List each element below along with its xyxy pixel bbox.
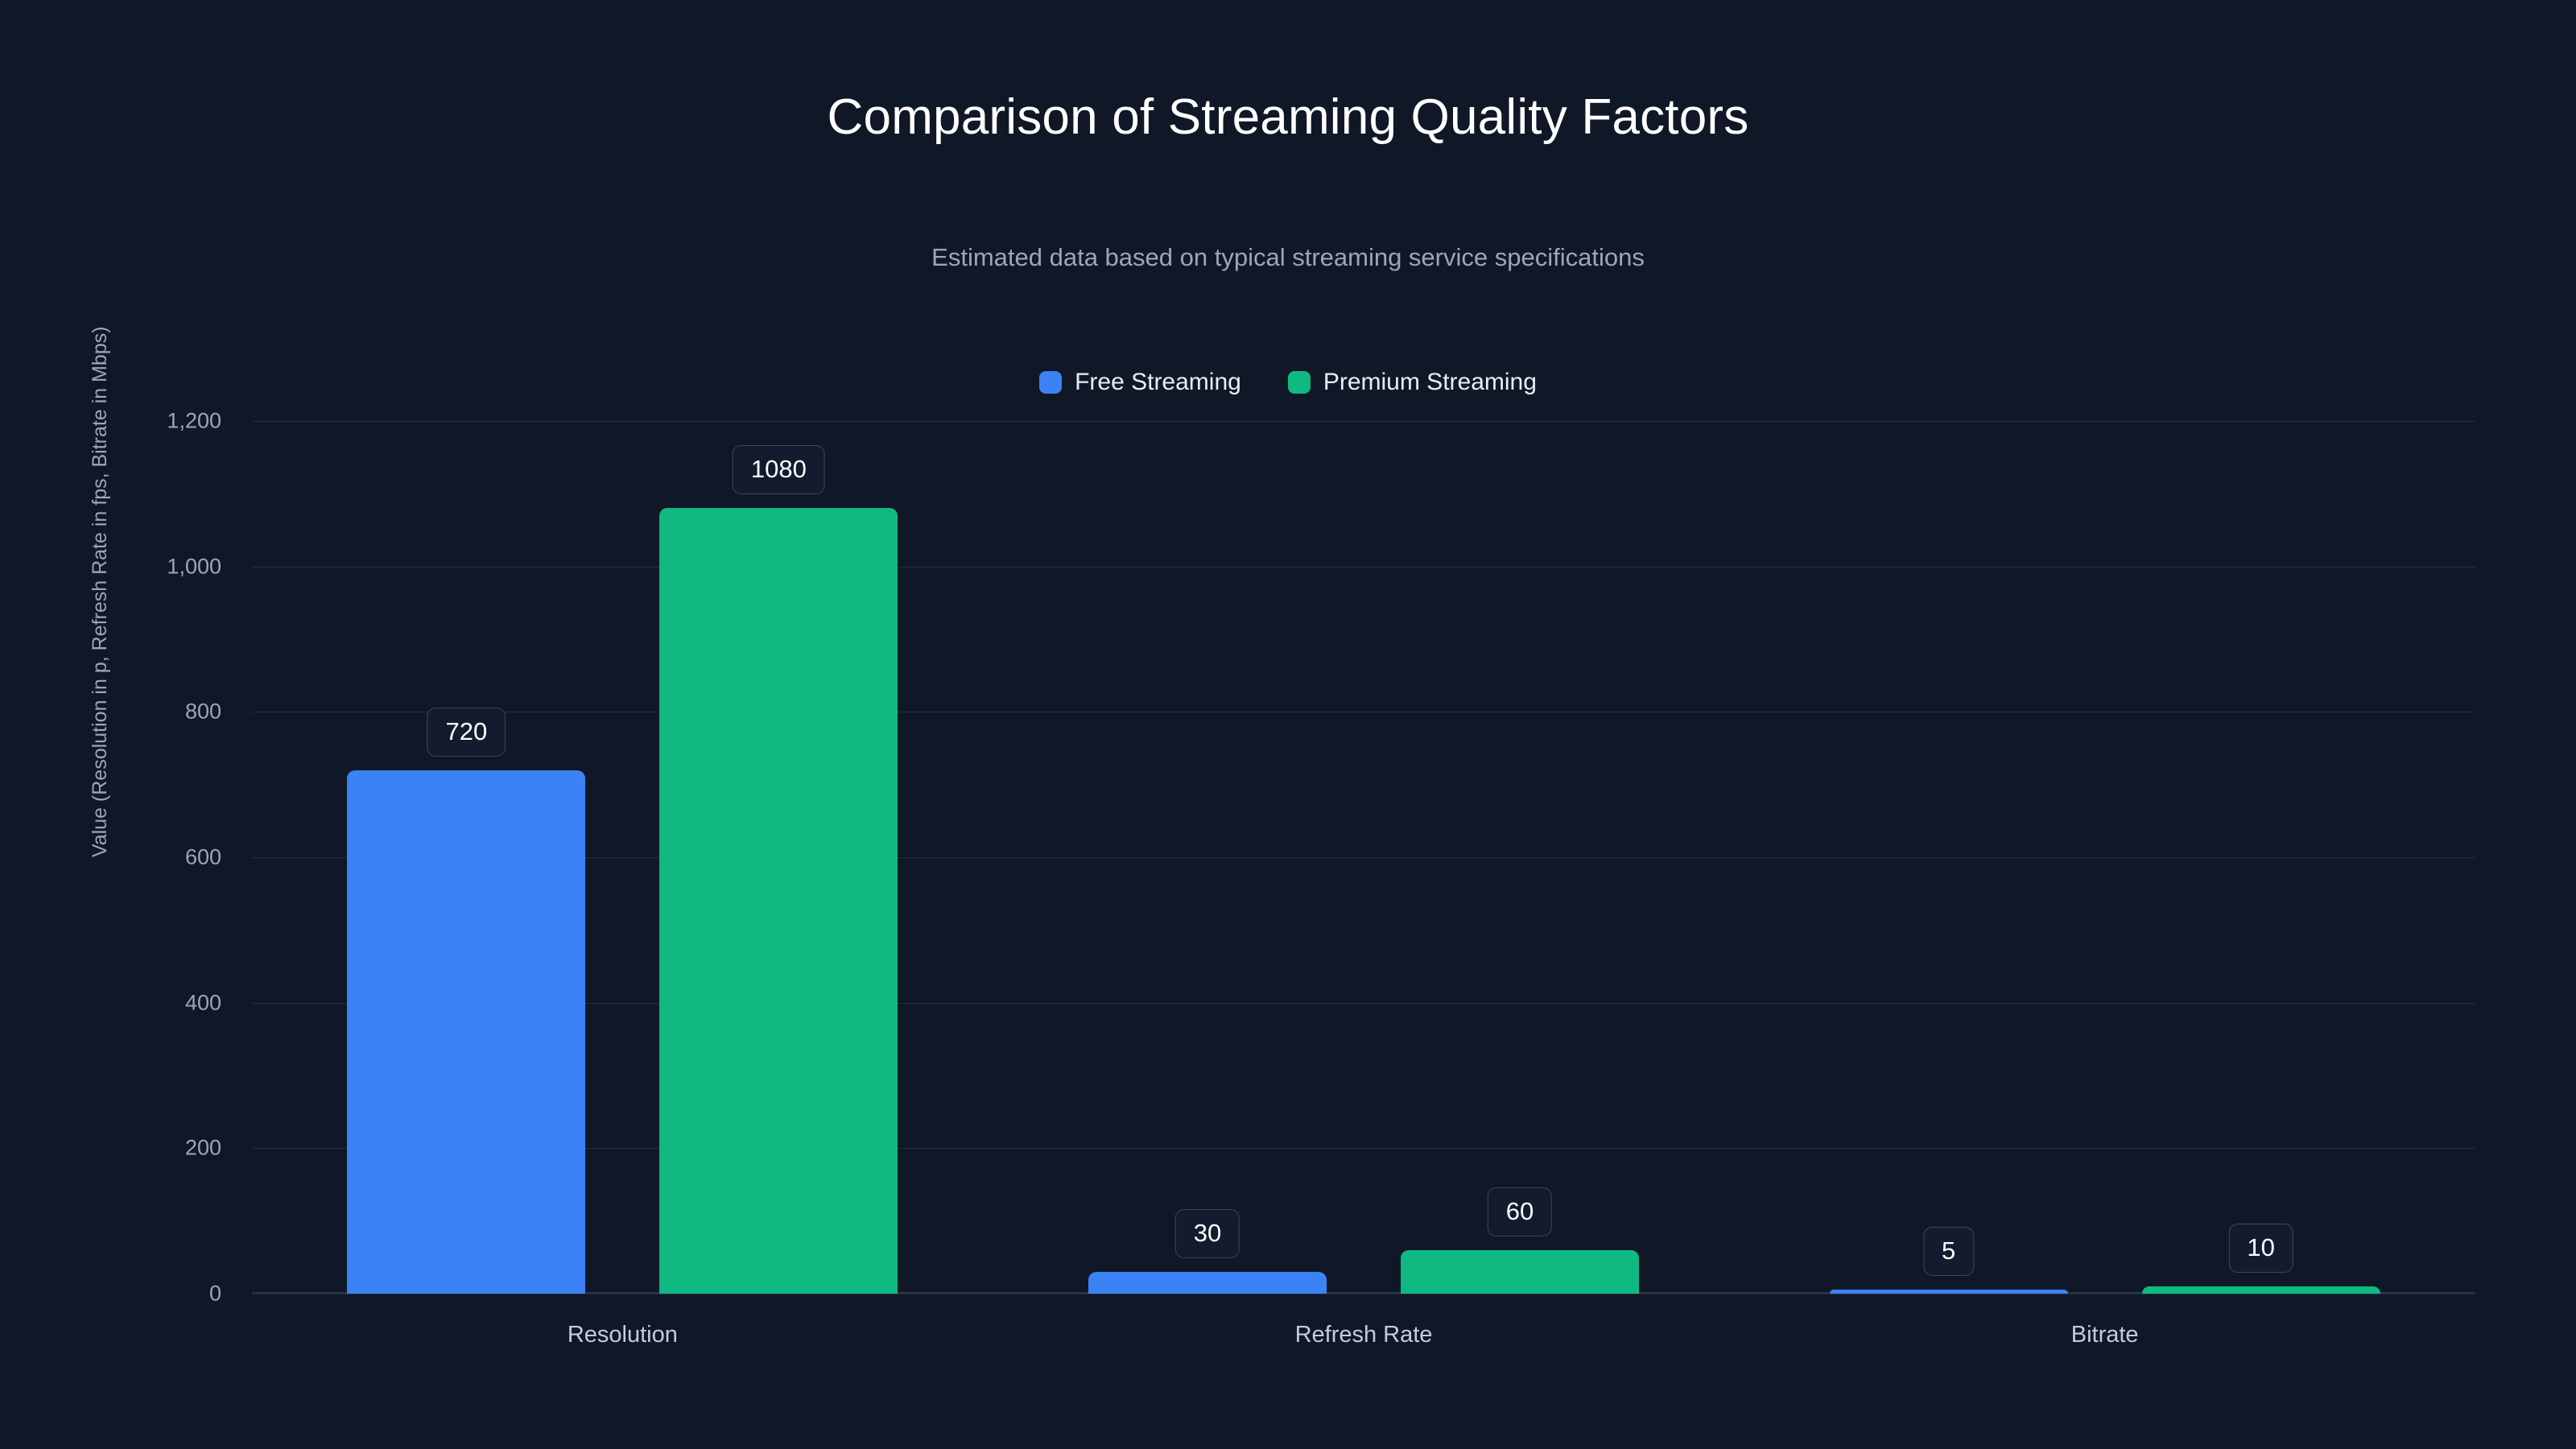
bar-bitrate-premium-streaming[interactable] [2142, 1286, 2380, 1294]
data-label: 10 [2228, 1224, 2293, 1273]
bar-resolution-premium-streaming[interactable] [659, 508, 898, 1294]
chart-legend: Free Streaming Premium Streaming [0, 369, 2576, 396]
y-axis-tick-label: 1,000 [85, 554, 221, 579]
bar-refresh-rate-free-streaming[interactable] [1088, 1272, 1327, 1294]
legend-label-premium-streaming: Premium Streaming [1323, 369, 1537, 396]
gridline [252, 1148, 2475, 1149]
chart-subtitle: Estimated data based on typical streamin… [0, 243, 2576, 272]
legend-label-free-streaming: Free Streaming [1075, 369, 1241, 396]
data-label: 1080 [733, 445, 825, 494]
data-label: 720 [427, 708, 506, 757]
plot-area [252, 421, 2475, 1294]
page-title: Comparison of Streaming Quality Factors [0, 89, 2576, 146]
y-axis-tick-label: 0 [85, 1282, 221, 1307]
gridline [252, 1003, 2475, 1004]
y-axis-tick-label: 800 [85, 700, 221, 724]
data-label: 60 [1488, 1187, 1552, 1236]
x-axis-tick-label: Bitrate [2071, 1322, 2139, 1348]
data-label: 30 [1175, 1209, 1240, 1258]
gridline [252, 567, 2475, 568]
bar-refresh-rate-premium-streaming[interactable] [1401, 1250, 1639, 1294]
bar-bitrate-free-streaming[interactable] [1830, 1290, 2068, 1294]
legend-swatch-icon-free-streaming [1039, 371, 1062, 394]
y-axis-tick-label: 600 [85, 845, 221, 870]
x-axis-tick-label: Refresh Rate [1295, 1322, 1433, 1348]
y-axis-tick-label: 1,200 [85, 409, 221, 434]
gridline [252, 421, 2475, 422]
gridline [252, 1294, 2475, 1294]
y-axis-title: Value (Resolution in p, Refresh Rate in … [89, 326, 112, 857]
legend-item-premium-streaming[interactable]: Premium Streaming [1288, 369, 1537, 396]
gridline [252, 857, 2475, 858]
gridline [252, 712, 2475, 712]
legend-item-free-streaming[interactable]: Free Streaming [1039, 369, 1241, 396]
legend-swatch-icon-premium-streaming [1288, 371, 1311, 394]
bar-resolution-free-streaming[interactable] [347, 770, 585, 1294]
x-axis-tick-label: Resolution [568, 1322, 678, 1348]
gridlines [252, 421, 2475, 1294]
y-axis-tick-label: 400 [85, 990, 221, 1015]
y-axis-tick-label: 200 [85, 1136, 221, 1161]
chart-canvas: Comparison of Streaming Quality Factors … [0, 0, 2576, 1449]
data-label: 5 [1923, 1227, 1974, 1276]
